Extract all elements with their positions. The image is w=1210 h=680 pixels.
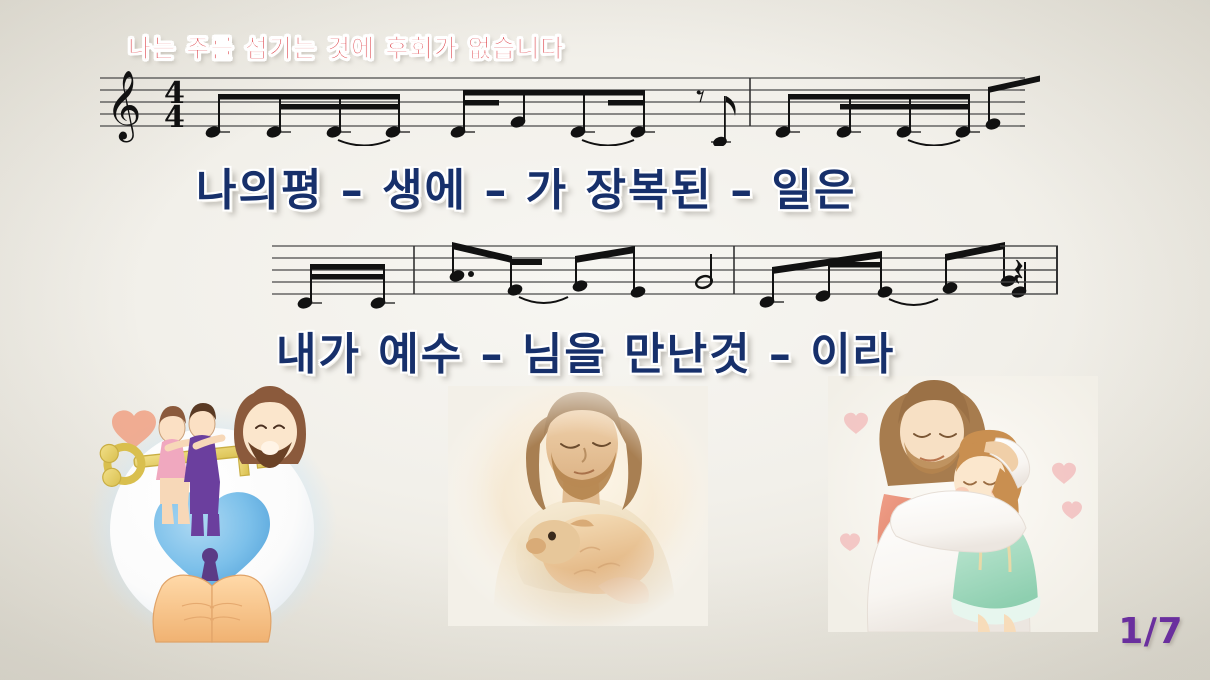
- music-staff-2-end-svg: 𝄽: [1000, 234, 1070, 320]
- staff2-measure-2-notes: [758, 251, 938, 309]
- staff-line-1: 𝄞 4 4: [100, 66, 1040, 146]
- pickup-notes: [296, 264, 395, 310]
- lyric-line-2: 내가 예수 – 님을 만난것 – 이라: [276, 318, 895, 382]
- music-staff-1-svg: 𝄞 4 4: [100, 66, 1040, 146]
- staff-line-2: [272, 234, 1062, 320]
- eighth-rest-and-grace: 𝄾: [696, 77, 736, 146]
- jesus-mouth: [261, 441, 279, 455]
- jesus-embracing-girl-svg: [828, 376, 1098, 632]
- quarter-rest-icon: 𝄽: [1012, 250, 1024, 296]
- couple-on-key: [156, 403, 222, 536]
- music-staff-2-svg: [272, 234, 1062, 320]
- jesus-figure: [234, 386, 306, 468]
- jesus-globe-heart-key-svg: [62, 378, 352, 648]
- eighth-rest-icon: 𝄾: [696, 77, 705, 117]
- jesus-with-lamb-painting: [448, 386, 708, 626]
- time-signature-denominator: 4: [164, 100, 185, 135]
- page-title: 나는 주를 섬기는 것에 후회가 없습니다: [128, 29, 565, 65]
- measure-1b-notes: [449, 90, 655, 146]
- lyric-line-1: 나의평 – 생에 – 가 장복된 – 일은: [196, 154, 857, 218]
- page-indicator: 1/7: [1118, 611, 1183, 652]
- music-staff-1-tail-svg: [1020, 66, 1210, 146]
- treble-clef-icon: 𝄞: [106, 70, 141, 142]
- jesus-with-lamb-svg: [448, 386, 708, 626]
- jesus-globe-heart-key-illustration: [62, 378, 352, 648]
- jesus-embracing-girl-watercolor: [828, 376, 1098, 632]
- staff2-measure-1b-notes: [571, 246, 713, 299]
- staff-line-1-tail: [1020, 66, 1210, 146]
- hymn-slide: 나는 주를 섬기는 것에 후회가 없습니다 𝄞 4 4: [0, 0, 1210, 680]
- staff-line-2-end: 𝄽: [1000, 234, 1070, 320]
